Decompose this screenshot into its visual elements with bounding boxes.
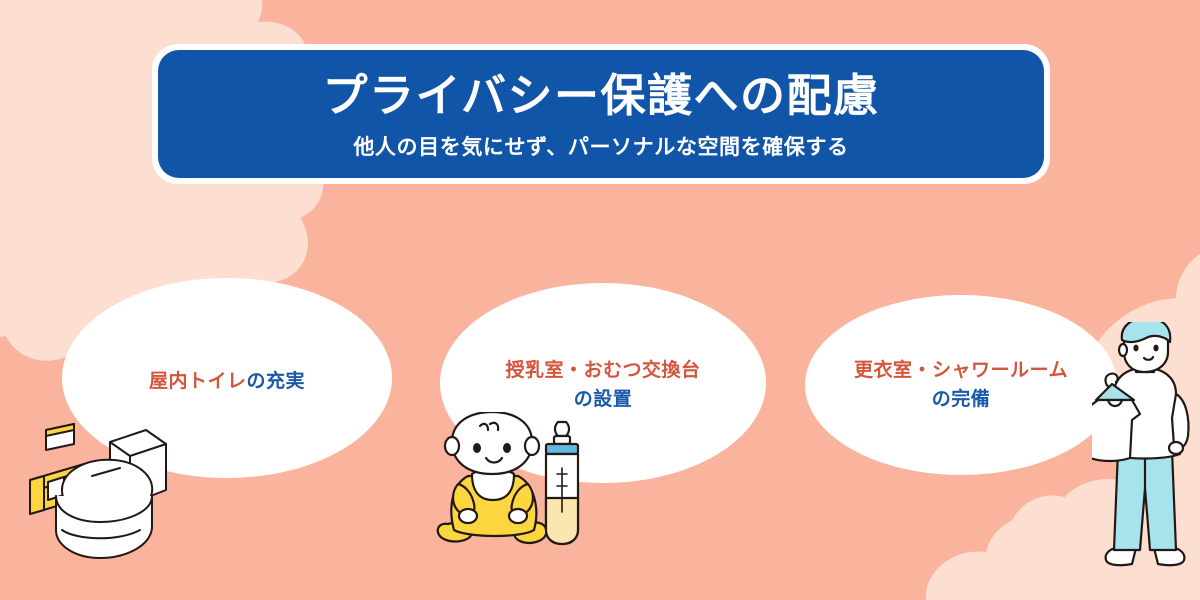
infographic-slide: プライバシー保護への配慮 他人の目を気にせず、パーソナルな空間を確保する 屋内ト… [0, 0, 1200, 600]
page-title: プライバシー保護への配慮 [322, 71, 879, 121]
person-holding-shirt-icon [1092, 322, 1198, 570]
title-banner: プライバシー保護への配慮 他人の目を気にせず、パーソナルな空間を確保する [152, 44, 1050, 184]
feature-label-secondary: の完備 [932, 389, 991, 410]
title-banner-inner: プライバシー保護への配慮 他人の目を気にせず、パーソナルな空間を確保する [158, 50, 1044, 178]
page-subtitle: 他人の目を気にせず、パーソナルな空間を確保する [353, 131, 848, 161]
baby-with-bottle-icon [432, 412, 592, 552]
feature-card-label: 授乳室・おむつ交換台 の設置 [487, 356, 718, 415]
toilet-with-step-stool-icon [14, 418, 204, 568]
feature-label-primary: 更衣室・シャワールーム [854, 360, 1068, 381]
feature-card-label: 屋内トイレの充実 [131, 367, 323, 396]
feature-label-secondary: の充実 [247, 371, 306, 392]
feature-label-primary: 屋内トイレ [149, 371, 247, 392]
feature-label-primary: 授乳室・おむつ交換台 [505, 360, 700, 381]
feature-label-secondary: の設置 [574, 389, 633, 410]
feature-card-changing-room: 更衣室・シャワールーム の完備 [805, 295, 1117, 475]
feature-card-label: 更衣室・シャワールーム の完備 [836, 356, 1086, 415]
